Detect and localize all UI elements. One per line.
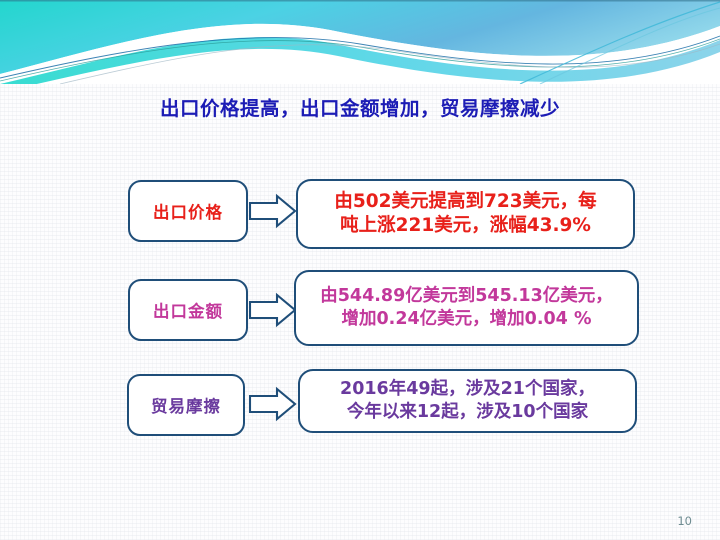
block-arrow-right-icon bbox=[249, 386, 297, 422]
flow-detail-line-1: 由544.89亿美元到545.13亿美元， bbox=[320, 285, 613, 308]
slide-canvas: 出口价格提高，出口金额增加，贸易摩擦减少 出口价格 由502美元提高到723美元… bbox=[0, 0, 720, 540]
flow-label-box[interactable]: 贸易摩擦 bbox=[127, 374, 245, 436]
decorative-wave-banner bbox=[0, 0, 720, 84]
flow-label-box[interactable]: 出口金额 bbox=[128, 279, 248, 341]
flow-detail-line-2: 增加0.24亿美元，增加0.04 % bbox=[320, 308, 613, 331]
flow-label-text: 出口金额 bbox=[153, 298, 223, 322]
flow-label-text: 贸易摩擦 bbox=[151, 393, 221, 417]
flow-detail-line-1: 2016年49起，涉及21个国家， bbox=[340, 378, 595, 401]
flow-label-text: 出口价格 bbox=[153, 199, 223, 223]
flow-row: 出口价格 由502美元提高到723美元，每 吨上涨221美元，涨幅43.9% bbox=[0, 180, 720, 252]
block-arrow-right-icon bbox=[249, 193, 297, 229]
flow-row: 出口金额 由544.89亿美元到545.13亿美元， 增加0.24亿美元，增加0… bbox=[0, 275, 720, 347]
block-arrow-right-icon bbox=[249, 292, 297, 328]
flow-detail-line-1: 由502美元提高到723美元，每 bbox=[334, 190, 596, 214]
flow-detail-line-2: 今年以来12起，涉及10个国家 bbox=[340, 401, 595, 424]
page-number: 10 bbox=[677, 514, 692, 528]
flow-detail-line-2: 吨上涨221美元，涨幅43.9% bbox=[334, 214, 596, 238]
flow-detail-box[interactable]: 由502美元提高到723美元，每 吨上涨221美元，涨幅43.9% bbox=[296, 179, 635, 249]
flow-row: 贸易摩擦 2016年49起，涉及21个国家， 今年以来12起，涉及10个国家 bbox=[0, 371, 720, 443]
flow-label-box[interactable]: 出口价格 bbox=[128, 180, 248, 242]
page-title: 出口价格提高，出口金额增加，贸易摩擦减少 bbox=[0, 92, 720, 121]
flow-detail-box[interactable]: 2016年49起，涉及21个国家， 今年以来12起，涉及10个国家 bbox=[298, 369, 637, 433]
flow-detail-box[interactable]: 由544.89亿美元到545.13亿美元， 增加0.24亿美元，增加0.04 % bbox=[294, 270, 639, 346]
